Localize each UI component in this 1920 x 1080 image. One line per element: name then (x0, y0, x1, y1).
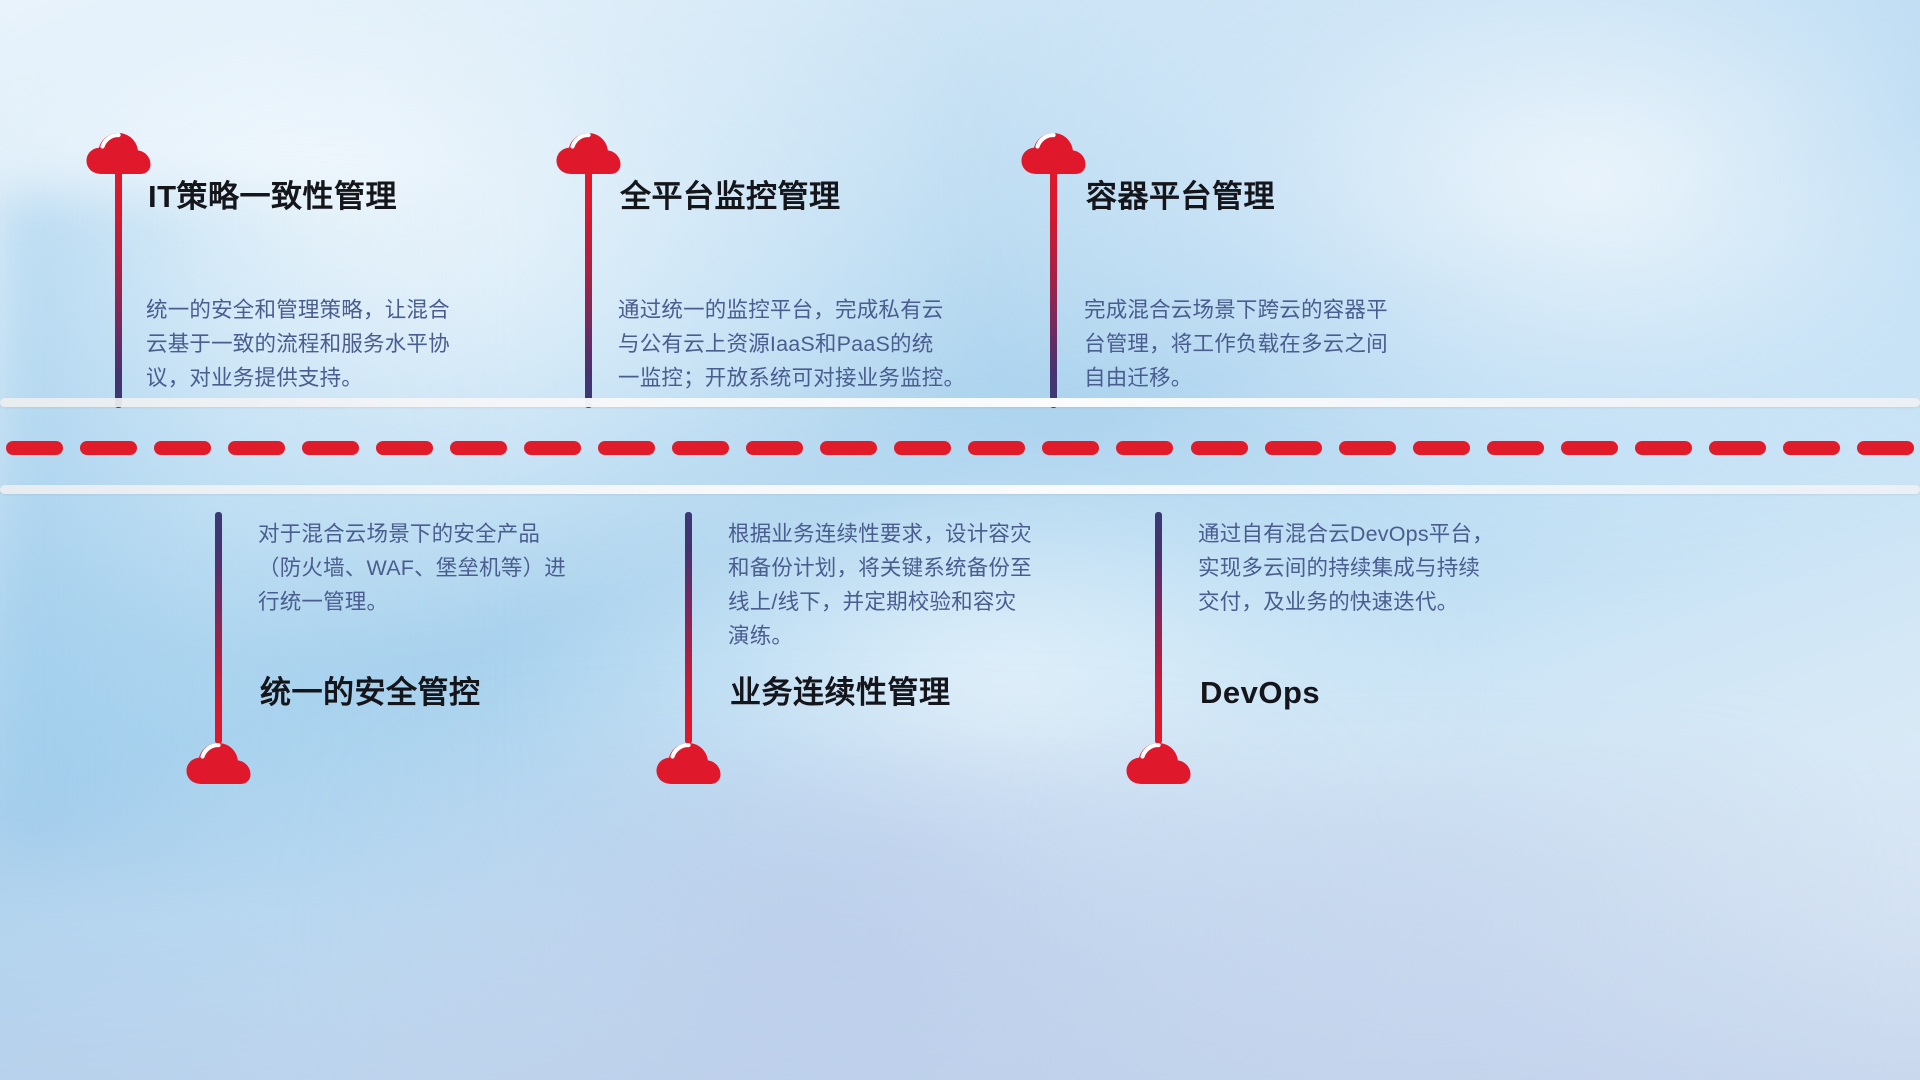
heading-container-platform: 容器平台管理 (1086, 178, 1275, 215)
road-dash-segment (1635, 441, 1692, 455)
body-unified-security-control: 对于混合云场景下的安全产品 （防火墙、WAF、堡垒机等）进 行统一管理。 (258, 517, 638, 619)
road-dash-segment (1413, 441, 1470, 455)
cloud-icon (185, 740, 253, 786)
stem-it-policy (115, 170, 122, 408)
road-dash-segment (1709, 441, 1766, 455)
body-it-policy-consistency: 统一的安全和管理策略，让混合 云基于一致的流程和服务水平协 议，对业务提供支持。 (146, 293, 526, 395)
road-dash-segment (450, 441, 507, 455)
stem-monitoring (585, 170, 592, 408)
road-dash-segment (820, 441, 877, 455)
body-line: 交付，及业务的快速迭代。 (1198, 585, 1578, 619)
road-dash-segment (1116, 441, 1173, 455)
road-dash-segment (1339, 441, 1396, 455)
road-divider (0, 398, 1920, 498)
body-line: 完成混合云场景下跨云的容器平 (1084, 293, 1464, 327)
body-line: 台管理，将工作负载在多云之间 (1084, 327, 1464, 361)
road-dashed-centerline (0, 441, 1920, 455)
road-dash-segment (1783, 441, 1840, 455)
stem-business-continuity (685, 512, 692, 744)
marker-container-platform (1020, 130, 1090, 176)
heading-devops: DevOps (1200, 674, 1320, 711)
cloud-icon (655, 740, 723, 786)
body-line: 通过自有混合云DevOps平台， (1198, 517, 1578, 551)
body-line: 自由迁移。 (1084, 361, 1464, 395)
road-dash-segment (1857, 441, 1914, 455)
body-line: 线上/线下，并定期校验和容灾 (728, 585, 1108, 619)
body-line: 议，对业务提供支持。 (146, 361, 526, 395)
body-container-platform: 完成混合云场景下跨云的容器平 台管理，将工作负载在多云之间 自由迁移。 (1084, 293, 1464, 395)
road-dash-segment (598, 441, 655, 455)
road-dash-segment (746, 441, 803, 455)
body-devops: 通过自有混合云DevOps平台， 实现多云间的持续集成与持续 交付，及业务的快速… (1198, 517, 1578, 619)
body-line: 云基于一致的流程和服务水平协 (146, 327, 526, 361)
road-dash-segment (302, 441, 359, 455)
body-line: 一监控；开放系统可对接业务监控。 (618, 361, 1013, 395)
stem-unified-security (215, 512, 222, 744)
body-line: 行统一管理。 (258, 585, 638, 619)
heading-it-policy-consistency: IT策略一致性管理 (148, 178, 397, 215)
heading-business-continuity: 业务连续性管理 (730, 674, 951, 711)
bottom-row-group: 对于混合云场景下的安全产品 （防火墙、WAF、堡垒机等）进 行统一管理。 统一的… (0, 498, 1920, 1080)
road-dash-segment (1561, 441, 1618, 455)
road-line-top (0, 398, 1920, 407)
stem-devops (1155, 512, 1162, 744)
road-dash-segment (672, 441, 729, 455)
road-dash-segment (1487, 441, 1544, 455)
body-line: 统一的安全和管理策略，让混合 (146, 293, 526, 327)
road-dash-segment (1265, 441, 1322, 455)
marker-it-policy (85, 130, 155, 176)
cloud-icon (1125, 740, 1193, 786)
heading-full-platform-monitoring: 全平台监控管理 (620, 178, 841, 215)
body-line: 与公有云上资源IaaS和PaaS的统 (618, 327, 1013, 361)
road-line-bottom (0, 485, 1920, 494)
body-full-platform-monitoring: 通过统一的监控平台，完成私有云 与公有云上资源IaaS和PaaS的统 一监控；开… (618, 293, 1013, 395)
road-dash-segment (968, 441, 1025, 455)
body-line: 通过统一的监控平台，完成私有云 (618, 293, 1013, 327)
body-line: （防火墙、WAF、堡垒机等）进 (258, 551, 638, 585)
marker-monitoring (555, 130, 625, 176)
road-dash-segment (154, 441, 211, 455)
stem-container-platform (1050, 170, 1057, 408)
body-line: 和备份计划，将关键系统备份至 (728, 551, 1108, 585)
road-dash-segment (6, 441, 63, 455)
body-line: 演练。 (728, 619, 1108, 653)
body-line: 根据业务连续性要求，设计容灾 (728, 517, 1108, 551)
road-dash-segment (1042, 441, 1099, 455)
road-dash-segment (376, 441, 433, 455)
road-dash-segment (80, 441, 137, 455)
top-row-group: IT策略一致性管理 统一的安全和管理策略，让混合 云基于一致的流程和服务水平协 … (0, 0, 1920, 398)
road-dash-segment (1191, 441, 1248, 455)
body-line: 实现多云间的持续集成与持续 (1198, 551, 1578, 585)
body-line: 对于混合云场景下的安全产品 (258, 517, 638, 551)
road-dash-segment (228, 441, 285, 455)
body-business-continuity: 根据业务连续性要求，设计容灾 和备份计划，将关键系统备份至 线上/线下，并定期校… (728, 517, 1108, 653)
heading-unified-security-control: 统一的安全管控 (260, 674, 481, 711)
road-dash-segment (524, 441, 581, 455)
infographic-canvas: IT策略一致性管理 统一的安全和管理策略，让混合 云基于一致的流程和服务水平协 … (0, 0, 1920, 1080)
road-dash-segment (894, 441, 951, 455)
